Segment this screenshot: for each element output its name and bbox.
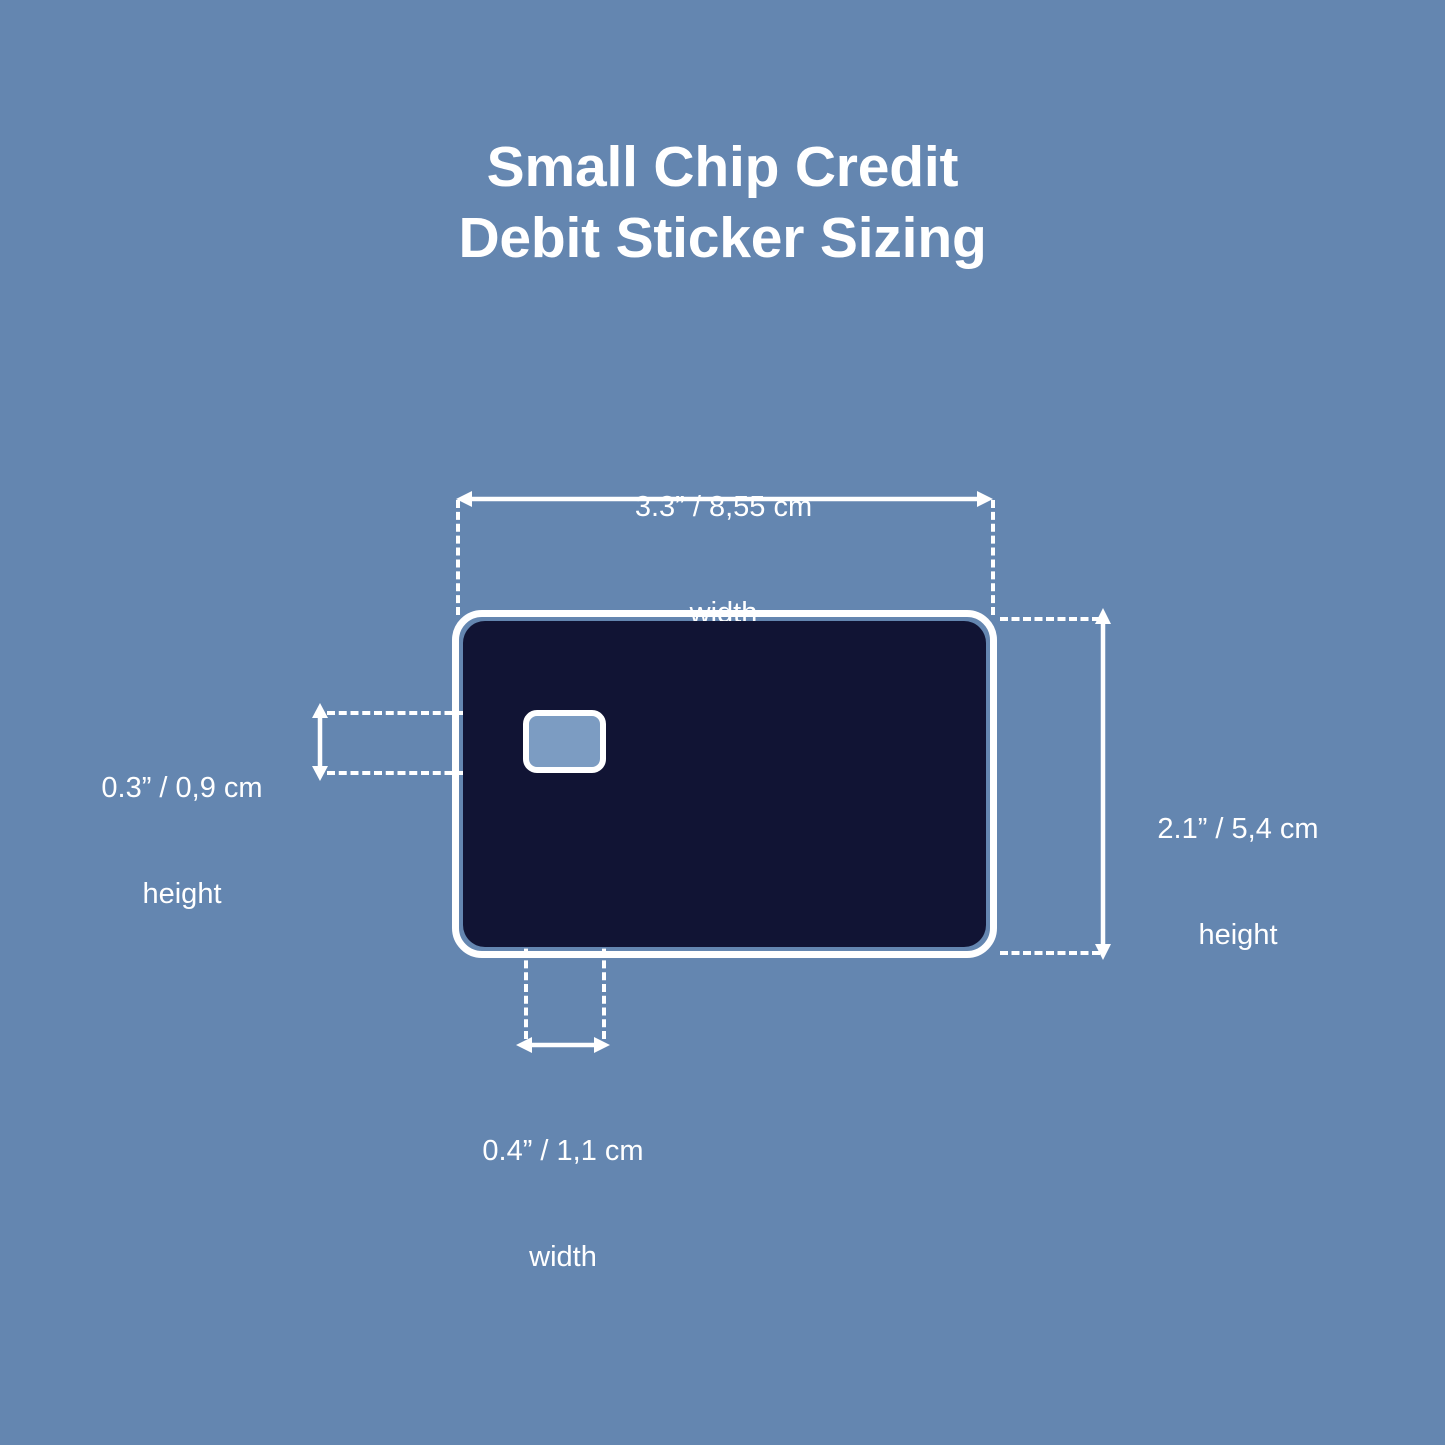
card-height-label: 2.1” / 5,4 cm height	[1118, 741, 1358, 1024]
chip-height-label: 0.3” / 0,9 cm height	[62, 700, 302, 983]
chip-height-unit: height	[62, 877, 302, 912]
card-height-arrow	[1091, 608, 1115, 960]
card-width-arrow	[456, 487, 993, 511]
page-title-line-1: Small Chip Credit	[0, 132, 1445, 203]
page-title: Small Chip Credit Debit Sticker Sizing	[0, 132, 1445, 273]
sizing-diagram-canvas: Small Chip Credit Debit Sticker Sizing 3…	[0, 0, 1445, 1445]
chip-width-unit: width	[443, 1240, 683, 1275]
card-height-extension-bottom	[1000, 951, 1100, 955]
card-height-extension-top	[1000, 617, 1100, 621]
card-width-extension-left	[456, 500, 460, 615]
credit-card-sticker[interactable]: That is very much adequate	[463, 621, 986, 947]
card-height-value: 2.1” / 5,4 cm	[1118, 812, 1358, 847]
page-title-line-2: Debit Sticker Sizing	[0, 203, 1445, 274]
chip-height-arrow	[308, 703, 332, 781]
chip-width-value: 0.4” / 1,1 cm	[443, 1134, 683, 1169]
chip-width-arrow	[516, 1033, 610, 1057]
card-height-unit: height	[1118, 918, 1358, 953]
card-width-extension-right	[991, 500, 995, 615]
chip-height-value: 0.3” / 0,9 cm	[62, 771, 302, 806]
card-chip-cutout	[523, 710, 606, 773]
chip-width-label: 0.4” / 1,1 cm width	[443, 1063, 683, 1346]
